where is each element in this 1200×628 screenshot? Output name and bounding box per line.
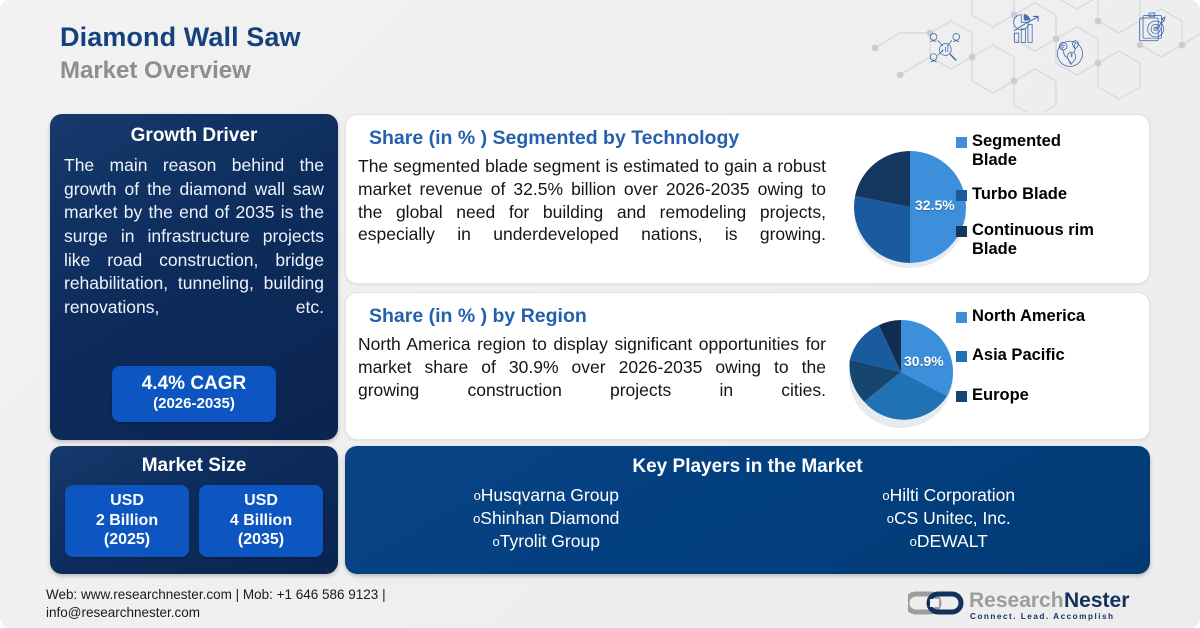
legend-item-asia-pacific: Asia Pacific bbox=[956, 346, 1085, 365]
global-finance-icon bbox=[1057, 41, 1082, 67]
list-item: oShinhan Diamond bbox=[345, 507, 748, 530]
player-name: Hilti Corporation bbox=[890, 485, 1015, 505]
legend-label-asia-pacific: Asia Pacific bbox=[972, 346, 1065, 365]
legend-label-europe: Europe bbox=[972, 386, 1029, 405]
hexagon-decoration bbox=[855, 0, 1200, 112]
region-share-card: Share (in % ) by Region North America re… bbox=[345, 292, 1150, 440]
legend-item-segmented-blade: Segmented Blade bbox=[956, 132, 1127, 171]
legend-swatch-europe bbox=[956, 391, 967, 402]
bullet-marker: o bbox=[882, 488, 889, 503]
player-name: DEWALT bbox=[917, 531, 988, 551]
growth-driver-text: The main reason behind the growth of the… bbox=[64, 154, 324, 319]
player-name: Husqvarna Group bbox=[481, 485, 619, 505]
market-size-panel: Market Size USD 2 Billion (2025) USD 4 B… bbox=[50, 446, 338, 574]
network-analytics-icon bbox=[930, 34, 959, 63]
logo-mark bbox=[908, 594, 961, 612]
page-subtitle: Market Overview bbox=[60, 57, 301, 86]
legend-swatch-continuous-rim-blade bbox=[956, 226, 967, 237]
page-title: Diamond Wall Saw bbox=[60, 22, 301, 53]
clipboard-target-icon bbox=[1140, 13, 1165, 41]
key-players-columns: oHusqvarna Group oShinhan Diamond oTyrol… bbox=[345, 484, 1150, 553]
cagr-period: (2026-2035) bbox=[116, 395, 272, 414]
logo-word-nester: Nester bbox=[1064, 589, 1129, 612]
legend-swatch-turbo-blade bbox=[956, 190, 967, 201]
base-currency: USD bbox=[67, 491, 187, 511]
legend-label-continuous-rim-blade: Continuous rim Blade bbox=[972, 221, 1127, 260]
legend-item-turbo-blade: Turbo Blade bbox=[956, 185, 1127, 204]
growth-driver-panel: Growth Driver The main reason behind the… bbox=[50, 114, 338, 440]
legend-swatch-segmented-blade bbox=[956, 137, 967, 148]
base-amount: 2 Billion bbox=[67, 511, 187, 531]
key-players-column-right: oHilti Corporation oCS Unitec, Inc. oDEW… bbox=[748, 484, 1151, 553]
base-year: (2025) bbox=[67, 530, 187, 550]
footer-contact: Web: www.researchnester.com | Mob: +1 64… bbox=[46, 586, 476, 622]
region-card-text: North America region to display signific… bbox=[358, 333, 826, 401]
page-header: Diamond Wall Saw Market Overview bbox=[60, 22, 301, 86]
bullet-marker: o bbox=[887, 511, 894, 526]
cagr-value: 4.4% CAGR bbox=[116, 373, 272, 395]
player-name: Tyrolit Group bbox=[500, 531, 600, 551]
legend-item-north-america: North America bbox=[956, 307, 1085, 326]
legend-item-europe: Europe bbox=[956, 386, 1085, 405]
region-pie-chart: 30.9% bbox=[838, 309, 968, 444]
legend-label-segmented-blade: Segmented Blade bbox=[972, 132, 1092, 171]
pie-slice-turbo-blade bbox=[854, 196, 910, 263]
logo-word-research: Research bbox=[969, 589, 1064, 612]
list-item: oHusqvarna Group bbox=[345, 484, 748, 507]
legend-swatch-north-america bbox=[956, 312, 967, 323]
technology-legend: Segmented Blade Turbo Blade Continuous r… bbox=[956, 132, 1127, 261]
list-item: oCS Unitec, Inc. bbox=[748, 507, 1151, 530]
key-players-heading: Key Players in the Market bbox=[345, 456, 1150, 478]
region-pie-callout: 30.9% bbox=[904, 353, 944, 369]
growth-driver-heading: Growth Driver bbox=[50, 125, 338, 147]
infographic-page: Diamond Wall Saw Market Overview Growth … bbox=[0, 0, 1200, 628]
forecast-currency: USD bbox=[201, 491, 321, 511]
market-size-heading: Market Size bbox=[50, 455, 338, 477]
forecast-year: (2035) bbox=[201, 530, 321, 550]
legend-swatch-asia-pacific bbox=[956, 351, 967, 362]
player-name: CS Unitec, Inc. bbox=[894, 508, 1011, 528]
bullet-marker: o bbox=[474, 488, 481, 503]
legend-label-turbo-blade: Turbo Blade bbox=[972, 185, 1067, 204]
forecast-amount: 4 Billion bbox=[201, 511, 321, 531]
market-size-values: USD 2 Billion (2025) USD 4 Billion (2035… bbox=[50, 485, 338, 557]
market-size-box-forecast-year: USD 4 Billion (2035) bbox=[199, 485, 323, 557]
research-nester-logo: Research Nester Connect. Lead. Accomplis… bbox=[908, 582, 1148, 624]
list-item: oDEWALT bbox=[748, 530, 1151, 553]
player-name: Shinhan Diamond bbox=[480, 508, 619, 528]
technology-share-card: Share (in % ) Segmented by Technology Th… bbox=[345, 114, 1150, 284]
legend-label-north-america: North America bbox=[972, 307, 1085, 326]
bullet-marker: o bbox=[910, 534, 917, 549]
logo-tagline: Connect. Lead. Accomplish bbox=[970, 612, 1115, 621]
region-legend: North America Asia Pacific Europe bbox=[956, 307, 1085, 407]
growth-chart-icon bbox=[1014, 14, 1038, 43]
key-players-panel: Key Players in the Market oHusqvarna Gro… bbox=[345, 446, 1150, 574]
list-item: oHilti Corporation bbox=[748, 484, 1151, 507]
cagr-badge: 4.4% CAGR (2026-2035) bbox=[112, 366, 276, 422]
market-size-box-base-year: USD 2 Billion (2025) bbox=[65, 485, 189, 557]
technology-pie-callout: 32.5% bbox=[915, 197, 955, 213]
list-item: oTyrolit Group bbox=[345, 530, 748, 553]
bullet-marker: o bbox=[493, 534, 500, 549]
legend-item-continuous-rim-blade: Continuous rim Blade bbox=[956, 221, 1127, 260]
key-players-column-left: oHusqvarna Group oShinhan Diamond oTyrol… bbox=[345, 484, 748, 553]
technology-card-text: The segmented blade segment is estimated… bbox=[358, 155, 826, 246]
